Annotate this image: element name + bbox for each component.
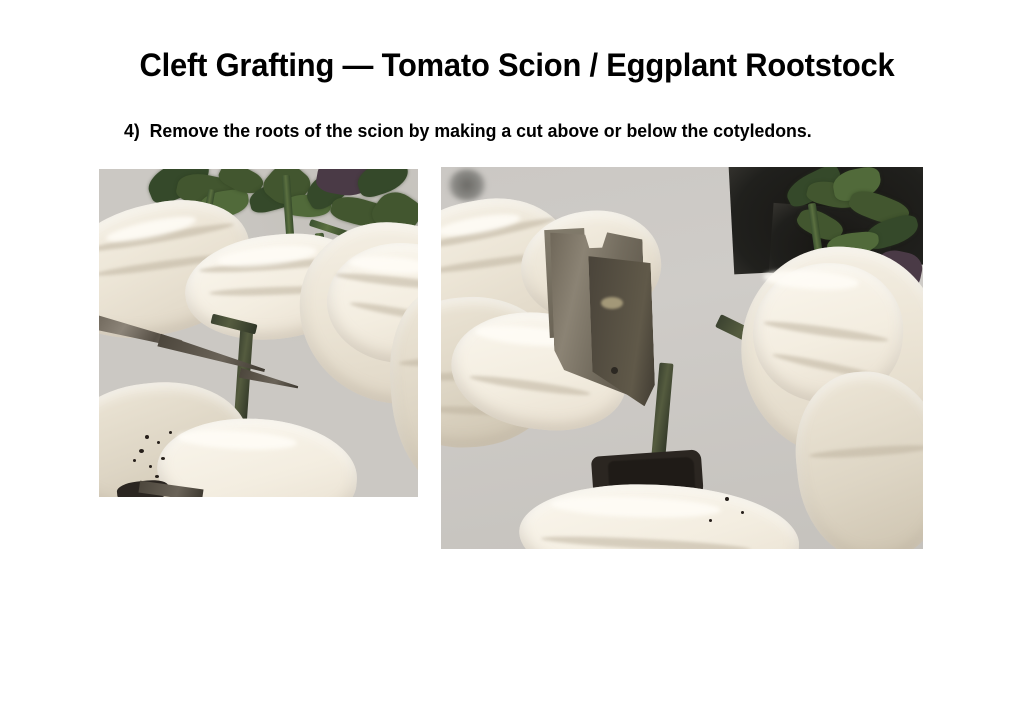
- soil-speck: [169, 431, 172, 434]
- figure-left-image: [99, 169, 418, 497]
- figure-right-photo: [441, 167, 923, 549]
- soil-speck: [145, 435, 149, 439]
- soil-speck: [741, 511, 744, 514]
- soil-speck: [725, 497, 729, 501]
- soil-speck: [709, 519, 712, 522]
- blade-hole: [611, 367, 618, 374]
- soil-speck: [157, 441, 160, 444]
- figure-left-photo: [99, 169, 418, 497]
- soil-speck: [155, 475, 159, 478]
- soil-speck: [161, 457, 165, 460]
- slide-canvas: Cleft Grafting — Tomato Scion / Eggplant…: [0, 0, 1024, 724]
- soil-speck: [133, 459, 136, 462]
- blurred-spot: [447, 169, 487, 201]
- step-instruction: 4) Remove the roots of the scion by maki…: [124, 120, 812, 142]
- soil-speck: [149, 465, 152, 468]
- blade-stain: [601, 297, 623, 309]
- figure-right-image: [441, 167, 923, 549]
- soil-speck: [139, 449, 144, 453]
- page-title: Cleft Grafting — Tomato Scion / Eggplant…: [78, 46, 956, 84]
